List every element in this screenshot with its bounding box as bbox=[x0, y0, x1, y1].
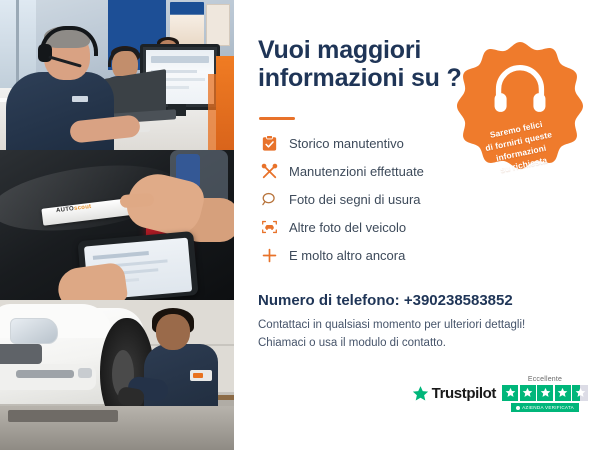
wall-poster-secondary-decor bbox=[206, 4, 230, 46]
worker-one-badge-decor bbox=[72, 96, 88, 102]
car-fog-light-decor bbox=[78, 368, 92, 378]
tools-cross-icon bbox=[258, 161, 280, 181]
verified-business-badge: AZIENDA VERIFICATA bbox=[511, 403, 579, 412]
feature-label: Altre foto del veicolo bbox=[289, 220, 406, 235]
trustpilot-star-filled bbox=[537, 385, 553, 401]
car-grille-decor bbox=[0, 344, 42, 364]
call-center-photo bbox=[0, 0, 234, 150]
mechanic-head-decor bbox=[156, 314, 190, 350]
trustpilot-stars bbox=[502, 385, 588, 401]
trustpilot-rating-label: Eccellente bbox=[528, 376, 562, 383]
clipboard-check-icon bbox=[258, 133, 280, 153]
trustpilot-star-icon bbox=[412, 385, 429, 402]
list-item: Foto dei segni di usura bbox=[258, 186, 498, 212]
verified-check-icon bbox=[516, 406, 520, 410]
car-scan-frame-icon bbox=[258, 217, 280, 237]
mechanic-uniform-logo-decor bbox=[190, 370, 212, 381]
orange-rack-secondary-decor bbox=[208, 74, 216, 150]
trustpilot-star-filled bbox=[502, 385, 518, 401]
content-panel: Vuoi maggiori informazioni su ? Saremo f… bbox=[234, 0, 600, 450]
inspector-finger-decor bbox=[120, 193, 155, 208]
trustpilot-brand-label: Trustpilot bbox=[432, 385, 496, 402]
phone-label: Numero di telefono: bbox=[258, 292, 400, 309]
tablet-holding-hand-decor bbox=[56, 261, 129, 300]
trustpilot-star-filled bbox=[555, 385, 571, 401]
phone-number[interactable]: +390238583852 bbox=[404, 292, 513, 309]
car-headlight-decor bbox=[10, 318, 58, 344]
page-title: Vuoi maggiori informazioni su ? bbox=[258, 36, 473, 92]
trustpilot-rating: Eccellente bbox=[502, 376, 588, 413]
title-accent-rule bbox=[259, 117, 295, 120]
monitor-toolbar-decor bbox=[151, 56, 209, 63]
feature-list: Storico manutentivo Manutenzioni effettu… bbox=[258, 130, 498, 270]
list-item: Altre foto del veicolo bbox=[258, 214, 498, 240]
trustpilot-widget[interactable]: Trustpilot Eccellente bbox=[412, 376, 588, 413]
feature-label: Manutenzioni effettuate bbox=[289, 164, 424, 179]
phone-line: Numero di telefono: +390238583852 bbox=[258, 292, 513, 309]
lift-pad-decor bbox=[8, 410, 118, 422]
contact-subtext-line-2: Chiamaci o usa il modulo di contatto. bbox=[258, 337, 446, 349]
orange-rack-decor bbox=[216, 56, 234, 150]
verified-business-label: AZIENDA VERIFICATA bbox=[522, 405, 574, 410]
contact-subtext-line-1: Contattaci in qualsiasi momento per ulte… bbox=[258, 319, 525, 331]
contact-subtext: Contattaci in qualsiasi momento per ulte… bbox=[258, 317, 548, 353]
headset-icon bbox=[454, 57, 586, 121]
photo-column: AUTOscout bbox=[0, 0, 234, 450]
car-bumper-slot-decor bbox=[16, 370, 74, 378]
list-item: Manutenzioni effettuate bbox=[258, 158, 498, 184]
plus-icon bbox=[258, 245, 280, 265]
vehicle-inspection-photo: AUTOscout bbox=[0, 150, 234, 300]
magnifier-icon bbox=[258, 189, 280, 209]
feature-label: E molto altro ancora bbox=[289, 248, 405, 263]
tablet-line-decor bbox=[93, 251, 149, 260]
promo-banner: AUTOscout bbox=[0, 0, 600, 450]
feature-label: Storico manutentivo bbox=[289, 136, 404, 151]
trustpilot-logo: Trustpilot bbox=[412, 385, 496, 402]
mechanic-tire-photo bbox=[0, 300, 234, 450]
worker-one-headset-cup-decor bbox=[38, 44, 52, 62]
list-item: E molto altro ancora bbox=[258, 242, 498, 268]
feature-label: Foto dei segni di usura bbox=[289, 192, 421, 207]
trustpilot-star-half bbox=[572, 385, 588, 401]
trustpilot-star-filled bbox=[520, 385, 536, 401]
list-item: Storico manutentivo bbox=[258, 130, 498, 156]
